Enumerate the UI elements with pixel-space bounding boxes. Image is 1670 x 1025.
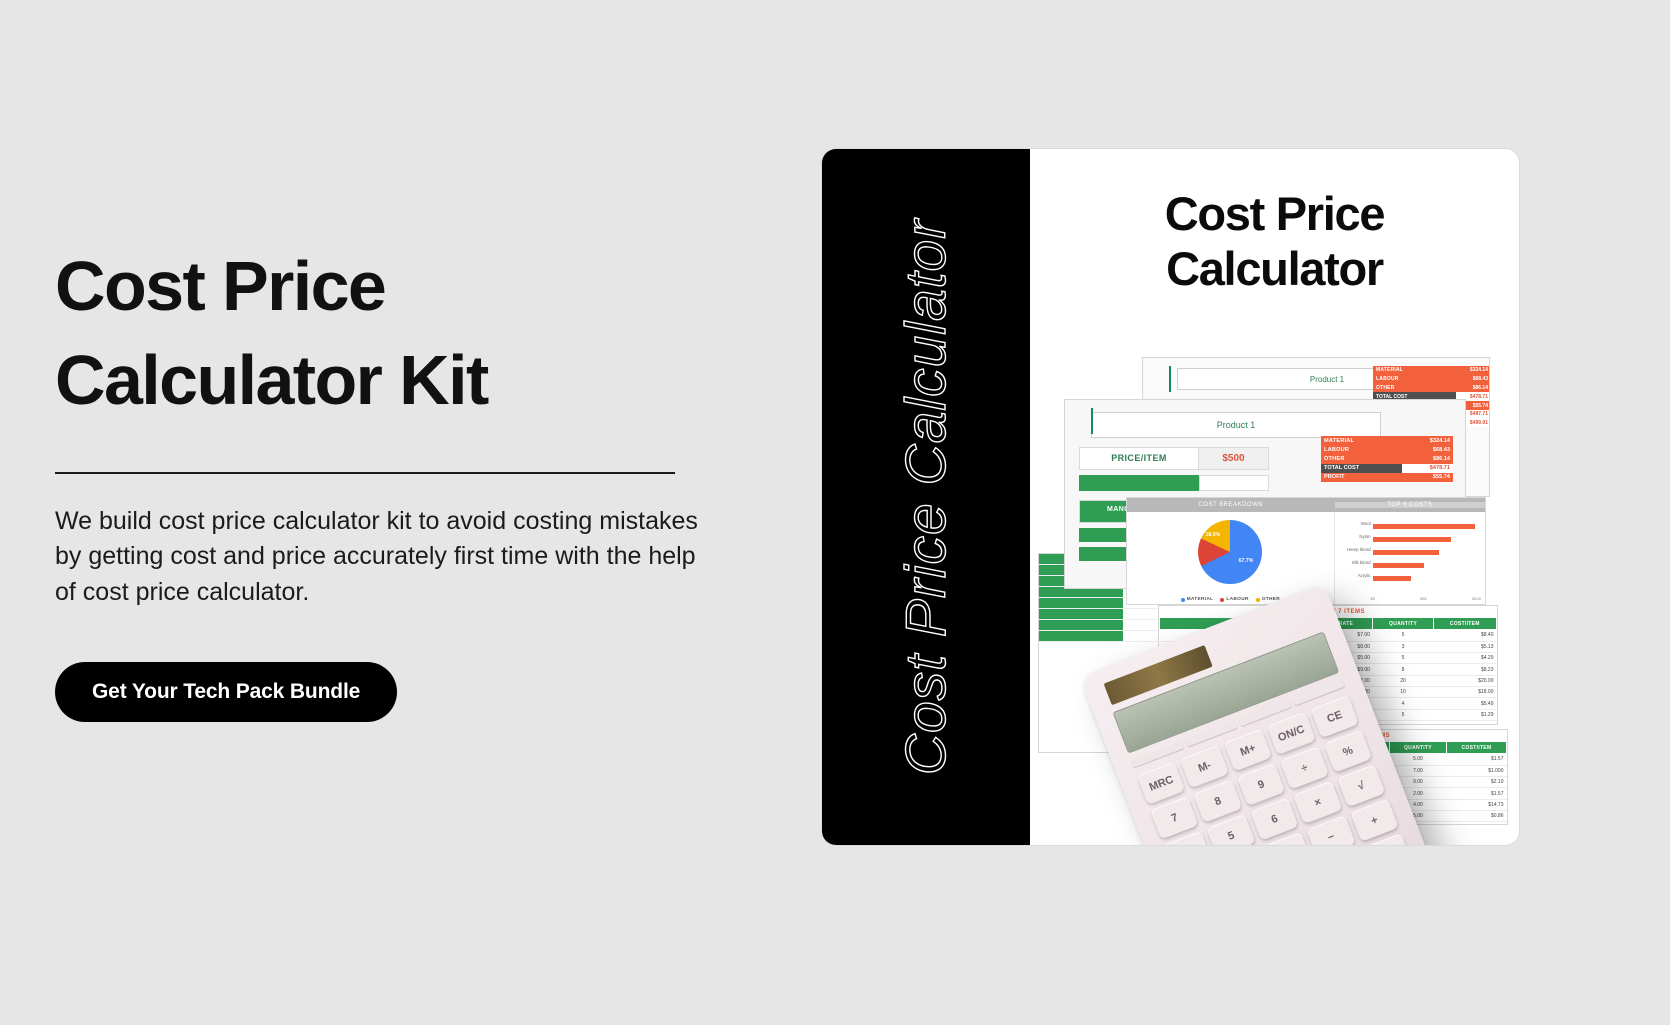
cost-row-value: $478.71	[1402, 464, 1453, 473]
legend-label: MATERIAL	[1187, 597, 1214, 602]
cell-cost: $4.29	[1433, 652, 1496, 663]
table-row: PROFIT $55.74	[1321, 473, 1453, 482]
cell-qty: 4	[1373, 698, 1433, 709]
cell-qty: 3	[1373, 641, 1433, 652]
cell-qty: 5.00	[1390, 754, 1447, 765]
legend-swatch-icon	[1256, 598, 1260, 602]
cell-cost: $18.00	[1433, 687, 1496, 698]
axis-tick: $50	[1420, 596, 1427, 601]
table-row: MATERIAL $324.14	[1321, 436, 1453, 445]
cost-row-value: $86.14	[1402, 454, 1453, 463]
cost-row-label: LABOUR	[1373, 375, 1456, 384]
cost-row-label: OTHER	[1373, 384, 1456, 393]
bar-axis-ticks: $0 $50 $100	[1371, 596, 1481, 601]
bar-label: Wool	[1337, 521, 1371, 526]
price-label: PRICE/ITEM	[1079, 447, 1199, 470]
column-header-quantity: QUANTITY	[1373, 618, 1433, 630]
headline-line-1: Cost Price	[55, 247, 385, 325]
table-row: OTHER $86.14	[1321, 454, 1453, 463]
cost-row-value: $55.74	[1402, 473, 1453, 482]
cost-row-label: OTHER	[1321, 454, 1402, 463]
card-title-line-1: Cost Price	[1165, 187, 1384, 240]
table-row: TOTAL COST $478.71	[1321, 464, 1453, 473]
cell-cost: $0.86	[1446, 811, 1506, 822]
table-row: MATERIAL $324.14	[1373, 366, 1490, 375]
cell-cost: $5.49	[1433, 698, 1496, 709]
cost-row-label: LABOUR	[1321, 445, 1402, 454]
cost-row-value: $68.43	[1456, 375, 1490, 384]
cell-cost: $8.23	[1433, 664, 1496, 675]
bar-row: Silk blend	[1373, 559, 1479, 572]
mid-sheet-product-label: Product 1	[1091, 412, 1381, 438]
column-header-cost-item: COST/ITEM	[1433, 618, 1496, 630]
cell-cost: $1.57	[1446, 754, 1506, 765]
axis-tick: $0	[1371, 596, 1375, 601]
bar-label: Hemp blend	[1337, 547, 1371, 552]
legend-item-material: MATERIAL	[1181, 597, 1214, 602]
top-costs-bar-chart: Wool Nylon Hemp blend	[1335, 512, 1485, 605]
table-row: LABOUR $68.43	[1321, 445, 1453, 454]
cell-qty: 5	[1373, 652, 1433, 663]
table-row: LABOUR $68.43	[1373, 375, 1490, 384]
bar-row: Nylon	[1373, 533, 1479, 546]
legend-item-labour: LABOUR	[1220, 597, 1248, 602]
cell-cost: $5.11	[1446, 822, 1506, 825]
hero-left-column: Cost Price Calculator Kit We build cost …	[55, 240, 735, 722]
cell-qty: 10	[1373, 687, 1433, 698]
cell-qty: 5	[1373, 630, 1433, 641]
bar-fill	[1373, 537, 1452, 543]
cost-row-value: $324.14	[1456, 366, 1490, 375]
divider-rule	[55, 472, 675, 474]
landing-page-hero: Cost Price Calculator Kit We build cost …	[0, 0, 1670, 1025]
spreadsheet-mockup: Product 1 MATERIAL $324.14 LABOUR $68.43	[1038, 357, 1519, 827]
column-header-quantity: QUANTITY	[1390, 742, 1447, 754]
cost-row-value: $86.14	[1456, 384, 1490, 393]
bar-row: Wool	[1373, 520, 1479, 533]
green-filler-row	[1079, 475, 1269, 491]
bar-fill	[1373, 576, 1411, 582]
card-black-panel: Cost Price Calculator	[822, 149, 1030, 845]
pie-value-labour: 14.3%	[1177, 552, 1192, 558]
cell-qty: 20	[1373, 675, 1433, 686]
cell-cost: $20.00	[1433, 675, 1496, 686]
bar-chart-title: TOP 6 COSTS	[1335, 502, 1485, 508]
cell-cost: $1.000	[1446, 765, 1506, 776]
bar-label: Silk blend	[1337, 560, 1371, 565]
cost-table-primary: MATERIAL $324.14 LABOUR $68.43 OTHER $86…	[1321, 436, 1453, 482]
cost-row-label: MATERIAL	[1373, 366, 1456, 375]
bar-row: Hemp blend	[1373, 546, 1479, 559]
price-per-item-row: PRICE/ITEM $500	[1079, 447, 1269, 470]
bar-label: Nylon	[1337, 534, 1371, 539]
bar-fill	[1373, 563, 1424, 569]
cost-row-label: TOTAL COST	[1321, 464, 1402, 473]
cell-qty: 8	[1373, 664, 1433, 675]
cell-cost: $8.40	[1433, 630, 1496, 641]
product-preview-card[interactable]: Cost Price Calculator Cost Price Calcula…	[822, 149, 1519, 845]
headline-line-2: Calculator Kit	[55, 334, 735, 428]
cost-row-value: $324.14	[1402, 436, 1453, 445]
bar-row: Acrylic	[1373, 572, 1479, 585]
cell-cost: $1.57	[1446, 788, 1506, 799]
legend-swatch-icon	[1220, 598, 1224, 602]
cell-qty: 5	[1373, 709, 1433, 720]
pie-value-material: 67.7%	[1239, 558, 1254, 564]
hero-description: We build cost price calculator kit to av…	[55, 504, 700, 611]
page-title: Cost Price Calculator Kit	[55, 240, 735, 428]
column-header-cost-item: COST/ITEM	[1446, 742, 1506, 754]
card-title-line-2: Calculator	[1166, 242, 1383, 295]
sheet-accent-tick	[1169, 366, 1171, 392]
bar-label: Acrylic	[1337, 573, 1371, 578]
table-row: OTHER $86.14	[1373, 384, 1490, 393]
cell-cost: $5.13	[1433, 641, 1496, 652]
cost-row-label: MATERIAL	[1321, 436, 1402, 445]
cost-row-value: $68.43	[1402, 445, 1453, 454]
legend-label: LABOUR	[1226, 597, 1248, 602]
card-white-panel: Cost Price Calculator	[1030, 149, 1519, 845]
get-your-tech-pack-bundle-button[interactable]: Get Your Tech Pack Bundle	[55, 662, 397, 722]
vertical-product-title: Cost Price Calculator	[893, 219, 959, 775]
cost-row-label: PROFIT	[1321, 473, 1402, 482]
legend-swatch-icon	[1181, 598, 1185, 602]
charts-header: COST BREAKDOWN TOP 6 COSTS	[1127, 498, 1485, 512]
bar-fill	[1373, 550, 1439, 556]
pie-graphic	[1198, 520, 1262, 584]
sheet-accent-tick	[1091, 408, 1093, 434]
axis-tick: $100	[1472, 596, 1481, 601]
cell-cost: $2.10	[1446, 776, 1506, 787]
card-product-title: Cost Price Calculator	[1030, 187, 1519, 297]
pie-value-other: 18.0%	[1206, 532, 1221, 538]
bar-fill	[1373, 524, 1475, 530]
cell-cost: $14.73	[1446, 799, 1506, 810]
price-value: $500	[1199, 447, 1269, 470]
cell-cost: $1.29	[1433, 709, 1496, 720]
pie-chart-title: COST BREAKDOWN	[1127, 502, 1335, 508]
